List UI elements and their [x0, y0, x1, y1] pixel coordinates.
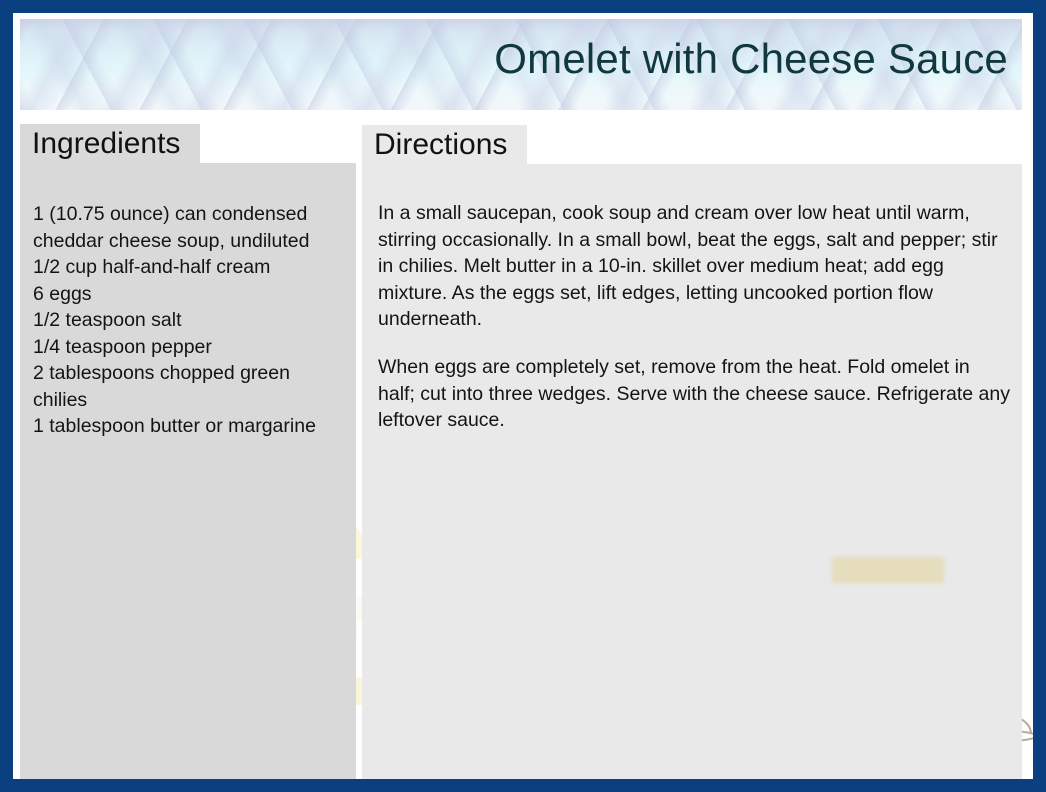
highlight-smudge [832, 557, 944, 583]
ingredients-heading: Ingredients [32, 127, 180, 161]
page-title: Omelet with Cheese Sauce [494, 35, 1008, 83]
directions-paragraph-2: When eggs are completely set, remove fro… [378, 354, 1012, 434]
title-banner: Omelet with Cheese Sauce [20, 19, 1022, 110]
directions-paragraph-1: In a small saucepan, cook soup and cream… [378, 200, 1012, 333]
ingredients-list: 1 (10.75 ounce) can condensed cheddar ch… [33, 201, 348, 440]
ingredients-panel: 1 (10.75 ounce) can condensed cheddar ch… [20, 163, 356, 779]
ingredients-tab[interactable]: Ingredients [20, 124, 200, 163]
slide-canvas: Omelet with Cheese Sauce [13, 13, 1033, 779]
directions-panel: In a small saucepan, cook soup and cream… [362, 164, 1022, 779]
directions-heading: Directions [374, 128, 507, 162]
recipe-slide: Omelet with Cheese Sauce [0, 0, 1046, 792]
directions-tab[interactable]: Directions [362, 125, 527, 164]
